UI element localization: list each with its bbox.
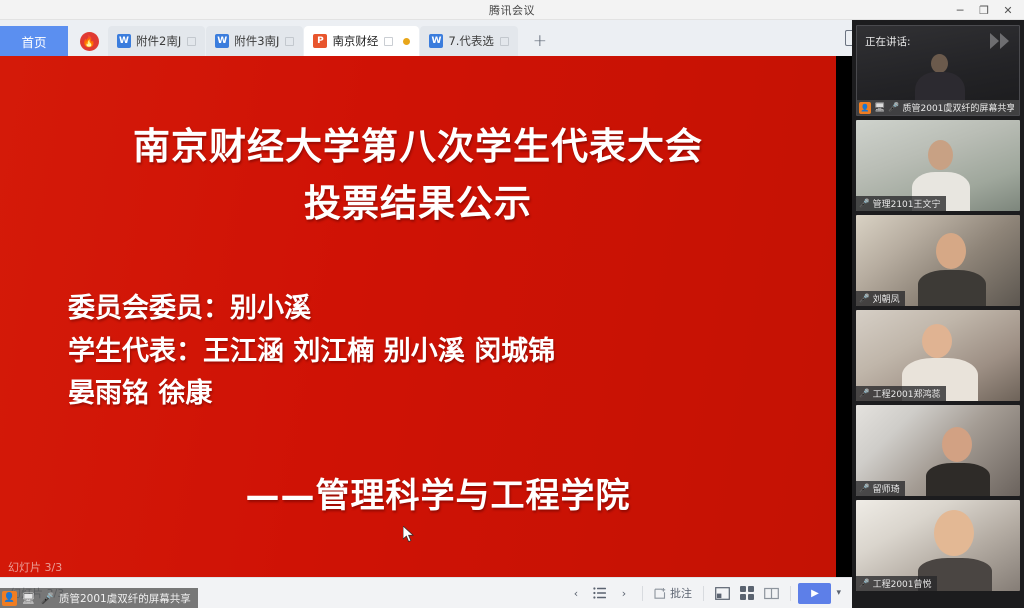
word-icon: W	[429, 34, 443, 48]
participant-name: 管理2101王文宁	[873, 197, 941, 210]
share-host-icon: 👤	[859, 102, 871, 114]
slide-body-line-1: 委员会委员：别小溪	[68, 288, 788, 331]
chevron-right-icon[interactable]	[990, 33, 1009, 49]
microphone-muted-icon: 🎤	[859, 199, 870, 209]
divider	[790, 586, 791, 601]
annotate-label: 批注	[670, 585, 692, 601]
tab-doc-representative[interactable]: W 7.代表选	[420, 26, 517, 56]
share-host-icon: 👤	[2, 591, 17, 606]
statusbar-tools: ‹ › 批注	[565, 582, 852, 604]
slide-body-line-2: 学生代表：王江涵 刘江楠 别小溪 闵城锦	[68, 331, 788, 374]
tile-participant-1[interactable]: 🎤 管理2101王文宁	[856, 120, 1020, 211]
tab-doc-njufe[interactable]: P 南京财经	[304, 26, 419, 56]
participant-name: 留师琦	[873, 482, 900, 495]
participant-namebar: 👤 🖥 🎤 质管2001虞双纤的屏幕共享	[857, 100, 1019, 115]
close-icon[interactable]	[500, 37, 509, 46]
participant-namebar: 🎤 工程2001郑鸿蕊	[856, 386, 946, 401]
reading-view-icon	[764, 587, 779, 600]
speaking-label: 正在讲话:	[865, 34, 911, 49]
share-label: 质管2001虞双纤的屏幕共享	[59, 591, 191, 606]
tab-doc-attachment-3[interactable]: W 附件3南J	[206, 26, 303, 56]
slide-body-line-3: 晏雨铭 徐康	[68, 373, 788, 416]
screen-icon: 🖥	[21, 591, 36, 606]
slide-canvas[interactable]: 南京财经大学第八次学生代表大会 投票结果公示 委员会委员：别小溪 学生代表：王江…	[0, 56, 836, 577]
screen-icon: 🖥	[874, 103, 885, 113]
mouse-cursor-icon	[403, 526, 415, 544]
flame-icon: 🔥	[80, 32, 99, 51]
participant-namebar: 🎤 管理2101王文宁	[856, 196, 946, 211]
reading-view-button[interactable]	[760, 582, 783, 604]
wps-tab-strip: 首页 🔥 W 附件2南J W 附件3南J P 南京财经 W 7.代表选 +	[0, 20, 852, 56]
grid-view-button[interactable]	[736, 582, 759, 604]
slide-footer: ——管理科学与工程学院	[0, 468, 836, 517]
powerpoint-icon: P	[313, 34, 327, 48]
tab-home-label: 首页	[21, 32, 46, 51]
tab-doc-attachment-2[interactable]: W 附件2南J	[108, 26, 205, 56]
screen-share-indicator[interactable]: 👤 🖥 🎤 质管2001虞双纤的屏幕共享	[0, 588, 198, 608]
meeting-close-icon[interactable]: ✕	[996, 0, 1020, 20]
participant-namebar: 🎤 留师琦	[856, 481, 905, 496]
microphone-muted-icon: 🎤	[859, 389, 870, 399]
participant-name: 刘朝凤	[873, 292, 900, 305]
close-icon[interactable]	[384, 37, 393, 46]
participant-name: 质管2001虞双纤的屏幕共享	[903, 101, 1015, 114]
close-icon[interactable]	[187, 37, 196, 46]
participant-name: 工程2001曾悦	[873, 577, 932, 590]
tile-participant-5[interactable]: 🎤 工程2001曾悦	[856, 500, 1020, 591]
tab-label: 附件2南J	[136, 33, 181, 49]
meeting-minimize-icon[interactable]: ─	[948, 0, 972, 20]
slide-counter-overlay: 幻灯片 3/3	[8, 559, 62, 575]
normal-view-icon	[715, 587, 730, 600]
slideshow-options-caret-icon[interactable]: ▾	[833, 588, 844, 598]
microphone-muted-icon: 🎤	[859, 484, 870, 494]
normal-view-button[interactable]	[711, 582, 734, 604]
microphone-muted-icon: 🎤	[859, 579, 870, 589]
meeting-window-controls: ─ ❐ ✕	[948, 0, 1020, 20]
close-icon[interactable]	[285, 37, 294, 46]
tile-participant-3[interactable]: 🎤 工程2001郑鸿蕊	[856, 310, 1020, 401]
outline-icon[interactable]	[589, 582, 611, 604]
new-tab-button[interactable]: +	[525, 26, 555, 56]
tile-participant-4[interactable]: 🎤 留师琦	[856, 405, 1020, 496]
microphone-muted-icon: 🎤	[859, 294, 870, 304]
slide-title-line2: 投票结果公示	[0, 175, 836, 232]
tab-flame[interactable]: 🔥	[74, 26, 104, 56]
prev-slide-button[interactable]: ‹	[565, 582, 587, 604]
tab-home[interactable]: 首页	[0, 26, 68, 56]
tile-screenshare[interactable]: 正在讲话: 👤 🖥 🎤 质管2001虞双纤的屏幕共享	[856, 25, 1020, 116]
annotate-button[interactable]: 批注	[650, 582, 696, 604]
unsaved-dot-icon	[403, 38, 410, 45]
participant-name: 工程2001郑鸿蕊	[873, 387, 941, 400]
outline-glyph	[593, 587, 607, 599]
screen-root: 腾讯会议 ─ ❐ ✕ 首页 🔥 W 附件2南J W 附件3南J P 南京财经	[0, 0, 1024, 608]
microphone-icon: 🎤	[40, 591, 55, 606]
tile-participant-2[interactable]: 🎤 刘朝凤	[856, 215, 1020, 306]
word-icon: W	[215, 34, 229, 48]
slide-title-line1: 南京财经大学第八次学生代表大会	[133, 125, 703, 168]
slide-stage: 南京财经大学第八次学生代表大会 投票结果公示 委员会委员：别小溪 学生代表：王江…	[0, 56, 852, 577]
participant-namebar: 🎤 刘朝凤	[856, 291, 905, 306]
microphone-icon: 🎤	[888, 103, 899, 113]
meeting-maximize-icon[interactable]: ❐	[972, 0, 996, 20]
word-icon: W	[117, 34, 131, 48]
meeting-titlebar: 腾讯会议 ─ ❐ ✕	[0, 0, 1024, 20]
next-slide-button[interactable]: ›	[613, 582, 635, 604]
tab-label: 7.代表选	[448, 33, 493, 49]
tab-label: 附件3南J	[234, 33, 279, 49]
meeting-title: 腾讯会议	[489, 2, 535, 18]
video-rail: 正在讲话: 👤 🖥 🎤 质管2001虞双纤的屏幕共享 🎤 管理2101王文宁	[852, 20, 1024, 608]
slide-title: 南京财经大学第八次学生代表大会 投票结果公示	[0, 118, 836, 233]
divider	[642, 586, 643, 601]
slide-body: 委员会委员：别小溪 学生代表：王江涵 刘江楠 别小溪 闵城锦 晏雨铭 徐康	[68, 288, 788, 416]
grid-icon	[740, 586, 755, 601]
annotate-icon	[654, 587, 667, 600]
divider	[703, 586, 704, 601]
tab-label: 南京财经	[332, 33, 378, 49]
participant-namebar: 🎤 工程2001曾悦	[856, 576, 937, 591]
start-slideshow-button[interactable]: ▶	[798, 583, 831, 604]
